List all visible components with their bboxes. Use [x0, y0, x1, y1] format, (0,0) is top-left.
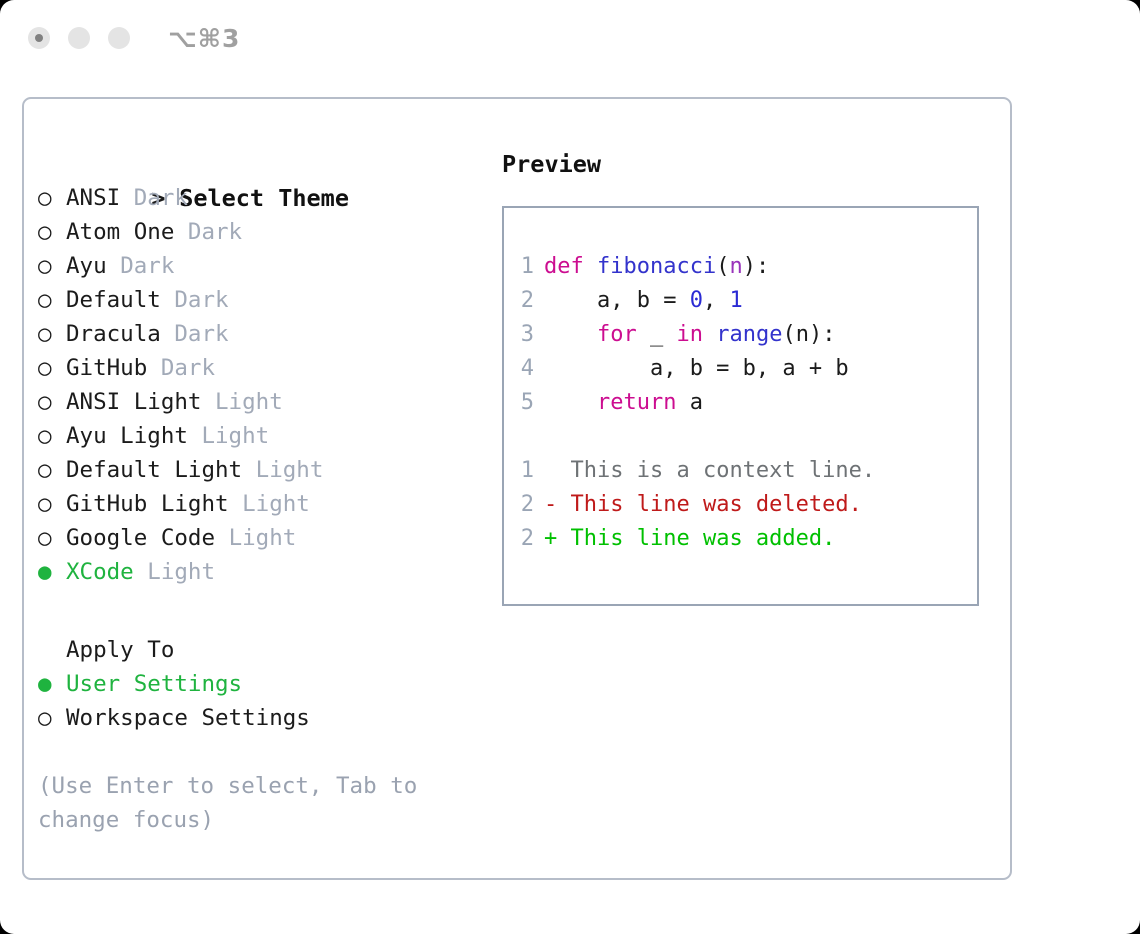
code-token: in — [676, 322, 703, 347]
radio-unselected-icon: ○ — [38, 283, 66, 317]
radio-unselected-icon: ○ — [38, 317, 66, 351]
theme-variant-badge: Dark — [174, 287, 228, 313]
preview-spacer — [504, 420, 977, 454]
theme-list-item[interactable]: ●XCode Light — [38, 555, 468, 589]
select-theme-heading-label: Select Theme — [179, 184, 349, 212]
diff-line-number: 2 — [504, 522, 544, 556]
theme-list: ○ANSI Dark○Atom One Dark○Ayu Dark○Defaul… — [38, 181, 468, 589]
code-token: a, b = — [544, 288, 690, 313]
radio-unselected-icon: ○ — [38, 701, 66, 735]
code-token: _ — [637, 322, 677, 347]
preview-column: Preview 1def fibonacci(n):2 a, b = 0, 13… — [502, 147, 992, 606]
window-dot-2[interactable] — [68, 27, 90, 49]
theme-list-item[interactable]: ○Atom One Dark — [38, 215, 468, 249]
theme-list-item[interactable]: ○Google Code Light — [38, 521, 468, 555]
diff-text: This line was deleted. — [571, 492, 862, 517]
code-token: 1 — [729, 288, 742, 313]
apply-to-option[interactable]: ●User Settings — [38, 667, 468, 701]
window-dot-3[interactable] — [108, 27, 130, 49]
code-token: n — [729, 254, 742, 279]
code-token — [703, 322, 716, 347]
code-line: 4 a, b = b, a + b — [504, 352, 977, 386]
diff-line-number: 2 — [504, 488, 544, 522]
code-token: def — [544, 254, 597, 279]
radio-unselected-icon: ○ — [38, 419, 66, 453]
code-token: , — [703, 288, 730, 313]
theme-variant-badge: Dark — [134, 185, 188, 211]
radio-unselected-icon: ○ — [38, 249, 66, 283]
radio-selected-icon: ● — [38, 555, 66, 589]
apply-to-option[interactable]: ○Workspace Settings — [38, 701, 468, 735]
theme-variant-badge: Light — [256, 457, 324, 483]
code-token — [544, 322, 597, 347]
theme-variant-badge: Light — [147, 559, 215, 585]
theme-list-item[interactable]: ○Dracula Dark — [38, 317, 468, 351]
window-controls — [28, 27, 130, 49]
diff-marker — [544, 458, 557, 483]
radio-unselected-icon: ○ — [38, 181, 66, 215]
code-token: for — [597, 322, 637, 347]
theme-name: GitHub Light — [66, 491, 229, 517]
code-line: 2 a, b = 0, 1 — [504, 284, 977, 318]
theme-list-item[interactable]: ○Default Dark — [38, 283, 468, 317]
theme-variant-badge: Light — [242, 491, 310, 517]
diff-line: 1 This is a context line. — [504, 454, 977, 488]
radio-unselected-icon: ○ — [38, 521, 66, 555]
code-line-number: 1 — [504, 250, 544, 284]
code-token: ( — [716, 254, 729, 279]
code-token: ): — [743, 254, 770, 279]
theme-variant-badge: Dark — [161, 355, 215, 381]
code-token: fibonacci — [597, 254, 716, 279]
apply-to-section: Apply To ●User Settings○Workspace Settin… — [38, 633, 468, 735]
apply-to-options: ●User Settings○Workspace Settings — [38, 667, 468, 735]
window-dot-active-inner — [35, 34, 43, 42]
theme-variant-badge: Dark — [188, 219, 242, 245]
radio-unselected-icon: ○ — [38, 351, 66, 385]
diff-line: 2+ This line was added. — [504, 522, 977, 556]
theme-name: XCode — [66, 559, 134, 585]
radio-unselected-icon: ○ — [38, 453, 66, 487]
theme-list-item[interactable]: ○Default Light Light — [38, 453, 468, 487]
code-line-number: 3 — [504, 318, 544, 352]
theme-list-item[interactable]: ○Ayu Dark — [38, 249, 468, 283]
code-token: return — [597, 390, 676, 415]
radio-unselected-icon: ○ — [38, 487, 66, 521]
theme-variant-badge: Light — [215, 389, 283, 415]
theme-picker-panel: >Select Theme ○ANSI Dark○Atom One Dark○A… — [22, 97, 1012, 880]
apply-to-option-label: User Settings — [66, 671, 242, 697]
theme-selection-column: >Select Theme ○ANSI Dark○Atom One Dark○A… — [38, 147, 468, 837]
diff-text: This line was added. — [571, 526, 836, 551]
diff-line-number: 1 — [504, 454, 544, 488]
select-theme-heading: >Select Theme — [38, 147, 468, 181]
code-token: a — [676, 390, 703, 415]
code-line: 1def fibonacci(n): — [504, 250, 977, 284]
code-line-number: 2 — [504, 284, 544, 318]
theme-name: Google Code — [66, 525, 215, 551]
diff-marker: + — [544, 526, 557, 551]
radio-selected-icon: ● — [38, 667, 66, 701]
apply-to-label: Apply To — [38, 633, 468, 667]
preview-heading: Preview — [502, 147, 992, 181]
code-token: (n): — [782, 322, 835, 347]
window-dot-active[interactable] — [28, 27, 50, 49]
theme-name: ANSI Light — [66, 389, 201, 415]
code-token — [544, 390, 597, 415]
apply-to-option-label: Workspace Settings — [66, 705, 310, 731]
keyboard-hint-text: (Use Enter to select, Tab to change focu… — [38, 769, 438, 837]
code-line-number: 4 — [504, 352, 544, 386]
theme-name: Ayu — [66, 253, 107, 279]
theme-name: ANSI — [66, 185, 120, 211]
app-window: ⌥⌘3 >Select Theme ○ANSI Dark○Atom One Da… — [0, 0, 1140, 934]
theme-name: Default Light — [66, 457, 242, 483]
code-line-number: 5 — [504, 386, 544, 420]
code-line: 3 for _ in range(n): — [504, 318, 977, 352]
code-line: 5 return a — [504, 386, 977, 420]
theme-name: Atom One — [66, 219, 174, 245]
code-token: a, b = b, a + b — [544, 356, 849, 381]
diff-line: 2- This line was deleted. — [504, 488, 977, 522]
theme-variant-badge: Dark — [174, 321, 228, 347]
theme-variant-badge: Dark — [120, 253, 174, 279]
theme-list-item[interactable]: ○GitHub Light Light — [38, 487, 468, 521]
radio-unselected-icon: ○ — [38, 215, 66, 249]
theme-name: Default — [66, 287, 161, 313]
diff-marker: - — [544, 492, 557, 517]
theme-list-item[interactable]: ○GitHub Dark — [38, 351, 468, 385]
theme-variant-badge: Light — [201, 423, 269, 449]
theme-list-item[interactable]: ○ANSI Light Light — [38, 385, 468, 419]
diff-text: This is a context line. — [571, 458, 876, 483]
theme-variant-badge: Light — [229, 525, 297, 551]
preview-box: 1def fibonacci(n):2 a, b = 0, 13 for _ i… — [502, 206, 979, 606]
theme-name: GitHub — [66, 355, 147, 381]
diff-sample: 1 This is a context line.2- This line wa… — [504, 454, 977, 556]
code-sample: 1def fibonacci(n):2 a, b = 0, 13 for _ i… — [504, 250, 977, 420]
theme-name: Dracula — [66, 321, 161, 347]
theme-list-item[interactable]: ○Ayu Light Light — [38, 419, 468, 453]
code-token: 0 — [690, 288, 703, 313]
code-token: range — [716, 322, 782, 347]
theme-name: Ayu Light — [66, 423, 188, 449]
title-bar: ⌥⌘3 — [0, 0, 1140, 78]
radio-unselected-icon: ○ — [38, 385, 66, 419]
keyboard-shortcut-label: ⌥⌘3 — [168, 24, 240, 53]
